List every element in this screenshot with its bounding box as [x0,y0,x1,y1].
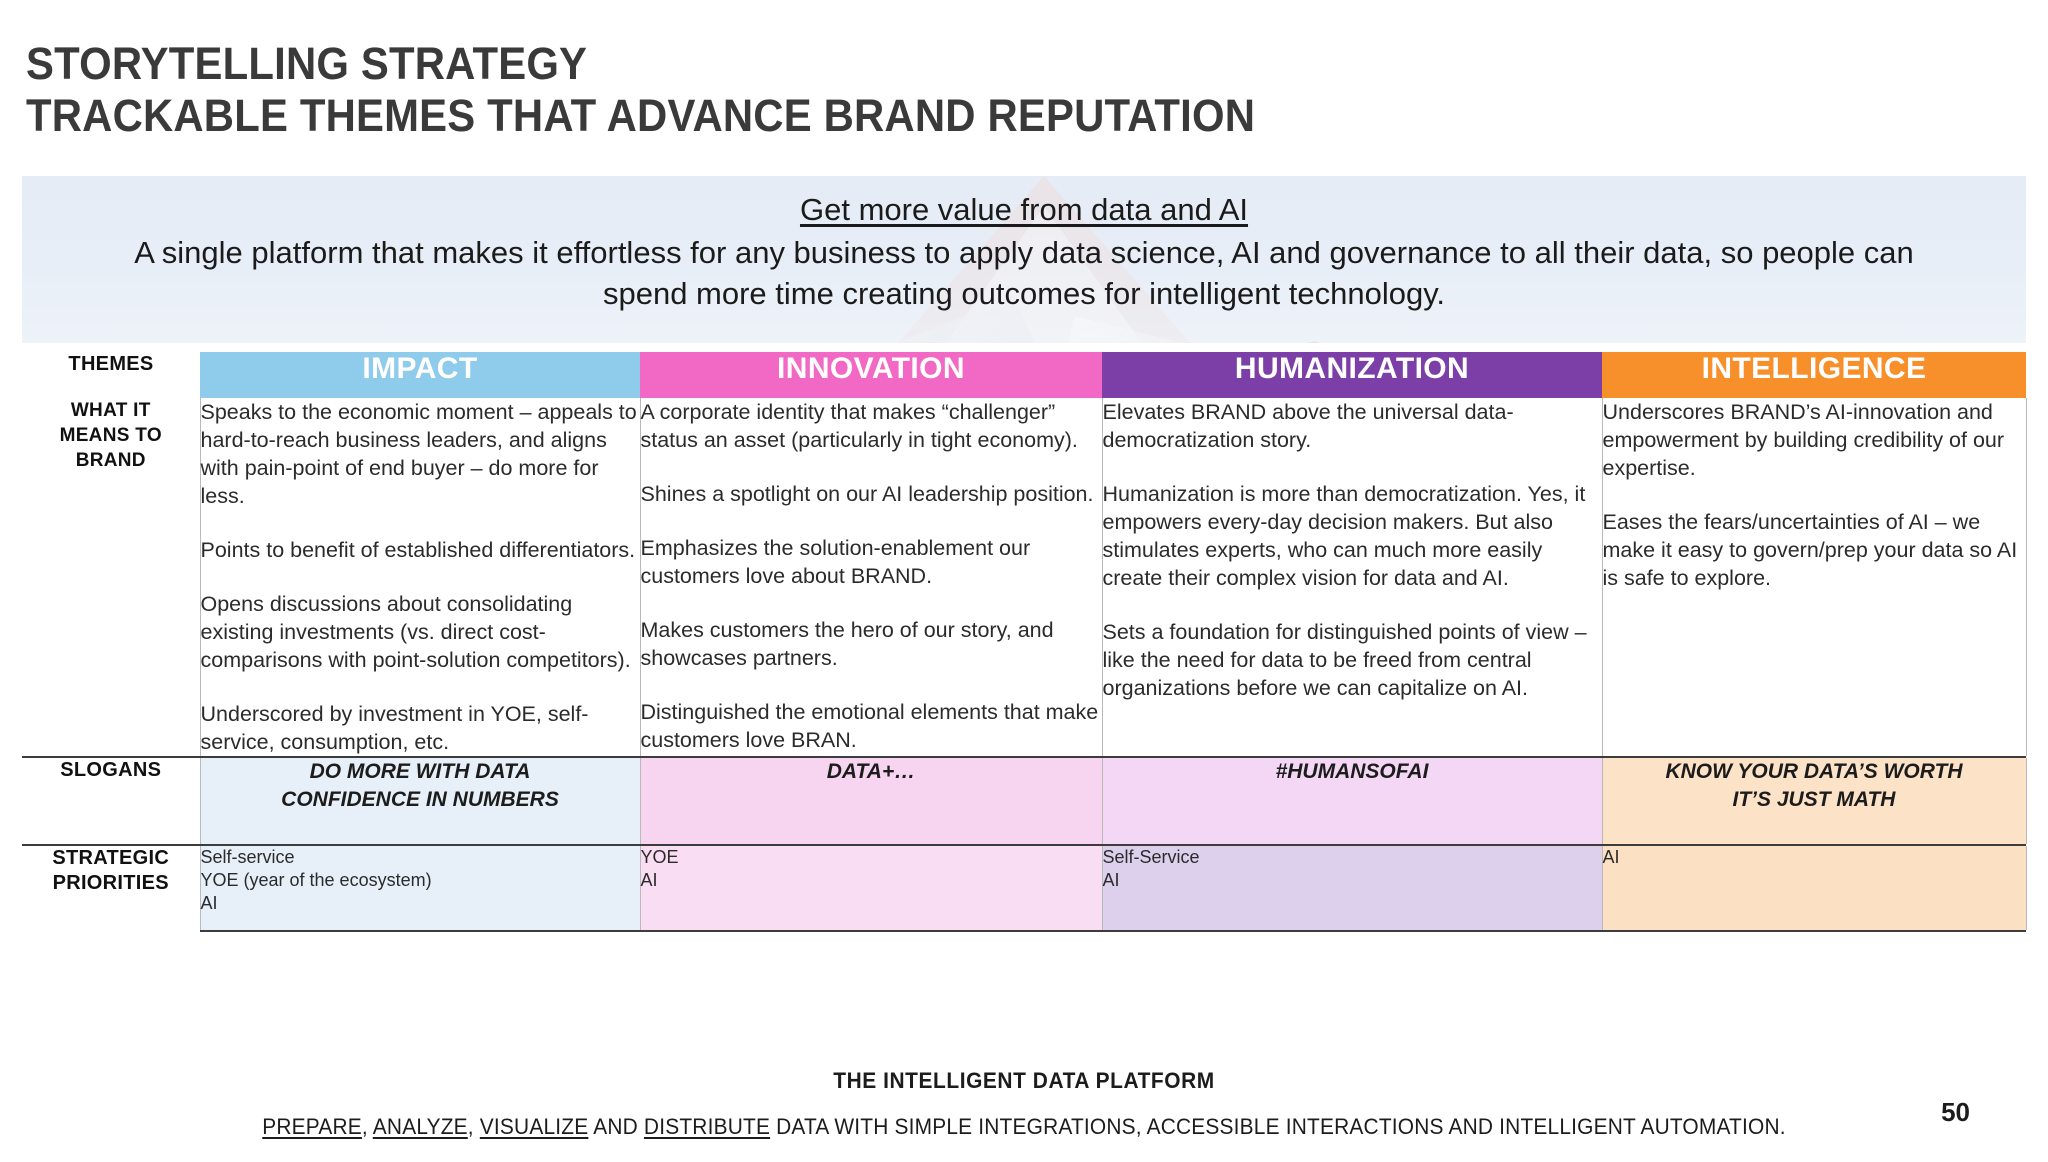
cell-innovation-slogan: DATA+… [640,758,1102,844]
paragraph: Makes customers the hero of our story, a… [641,616,1102,672]
title-line-2: TRACKABLE THEMES THAT ADVANCE BRAND REPU… [26,90,1607,142]
footer-sep-3: AND [588,1114,644,1139]
paragraph: Eases the fears/uncertainties of AI – we… [1603,508,2026,592]
row-label-strategic-priorities: STRATEGIC PRIORITIES [22,846,200,930]
cell-humanization-slogan: #HUMANSOFAI [1102,758,1602,844]
column-header-intelligence[interactable]: INTELLIGENCE [1602,352,2026,398]
column-header-humanization[interactable]: HUMANIZATION [1102,352,1602,398]
paragraph: Elevates BRAND above the universal data-… [1103,398,1602,454]
cell-humanization-body: Elevates BRAND above the universal data-… [1102,398,1602,756]
priority-list-innovation: YOE AI [641,846,1102,892]
paragraph: Underscores BRAND’s AI-innovation and em… [1603,398,2026,482]
page-title: STORYTELLING STRATEGY TRACKABLE THEMES T… [26,38,1726,142]
page-number: 50 [1941,1097,1970,1128]
cell-impact-priorities: Self-service YOE (year of the ecosystem)… [200,846,640,930]
priority-list-humanization: Self-Service AI [1103,846,1602,892]
priority-list-impact: Self-service YOE (year of the ecosystem)… [201,846,640,915]
footer-link-prepare[interactable]: PREPARE [262,1114,362,1139]
footer-tail-text: DATA WITH SIMPLE INTEGRATIONS, ACCESSIBL… [770,1114,1786,1139]
subtitle-band: Get more value from data and AI A single… [22,176,2026,343]
table-header-row: THEMES IMPACT INNOVATION HUMANIZATION IN… [22,352,2026,398]
themes-table: THEMES IMPACT INNOVATION HUMANIZATION IN… [22,352,2026,932]
title-line-1: STORYTELLING STRATEGY [26,38,1607,90]
footer-link-distribute[interactable]: DISTRIBUTE [644,1114,770,1139]
column-header-impact[interactable]: IMPACT [200,352,640,398]
paragraph: A corporate identity that makes “challen… [641,398,1102,454]
slide-canvas: STORYTELLING STRATEGY TRACKABLE THEMES T… [0,0,2048,1162]
paragraph: Sets a foundation for distinguished poin… [1103,618,1602,702]
table-row-slogans: SLOGANS DO MORE WITH DATA CONFIDENCE IN … [22,758,2026,844]
row-label-what-it-means: WHAT IT MEANS TO BRAND [22,398,200,756]
paragraph: Humanization is more than democratizatio… [1103,480,1602,592]
paragraph: Shines a spotlight on our AI leadership … [641,480,1102,508]
divider-footer [22,930,2026,932]
footer: THE INTELLIGENT DATA PLATFORM PREPARE, A… [0,1068,2048,1140]
cell-intelligence-priorities: AI [1602,846,2026,930]
paragraph: Speaks to the economic moment – appeals … [201,398,640,510]
subtitle-body: A single platform that makes it effortle… [22,230,2026,314]
paragraph: Opens discussions about consolidating ex… [201,590,640,674]
cell-intelligence-body: Underscores BRAND’s AI-innovation and em… [1602,398,2026,756]
footer-link-visualize[interactable]: VISUALIZE [480,1114,589,1139]
footer-link-analyze[interactable]: ANALYZE [373,1114,468,1139]
subtitle-headline: Get more value from data and AI [22,190,2026,230]
paragraph: Distinguished the emotional elements tha… [641,698,1102,754]
paragraph: Underscored by investment in YOE, self-s… [201,700,640,756]
footer-title: THE INTELLIGENT DATA PLATFORM [51,1068,1997,1094]
cell-impact-body: Speaks to the economic moment – appeals … [200,398,640,756]
cell-intelligence-slogan: KNOW YOUR DATA’S WORTH IT’S JUST MATH [1602,758,2026,844]
table-row-what-it-means: WHAT IT MEANS TO BRAND Speaks to the eco… [22,398,2026,756]
row-label-themes: THEMES [22,352,200,398]
table-row-strategic-priorities: STRATEGIC PRIORITIES Self-service YOE (y… [22,846,2026,930]
column-header-innovation[interactable]: INNOVATION [640,352,1102,398]
cell-impact-slogan: DO MORE WITH DATA CONFIDENCE IN NUMBERS [200,758,640,844]
paragraph: Emphasizes the solution-enablement our c… [641,534,1102,590]
cell-innovation-body: A corporate identity that makes “challen… [640,398,1102,756]
footer-subtitle: PREPARE, ANALYZE, VISUALIZE AND DISTRIBU… [51,1114,1997,1140]
footer-sep-1: , [362,1114,373,1139]
row-label-slogans: SLOGANS [22,758,200,844]
footer-sep-2: , [468,1114,480,1139]
priority-list-intelligence: AI [1603,846,2026,869]
paragraph: Points to benefit of established differe… [201,536,640,564]
cell-humanization-priorities: Self-Service AI [1102,846,1602,930]
cell-innovation-priorities: YOE AI [640,846,1102,930]
